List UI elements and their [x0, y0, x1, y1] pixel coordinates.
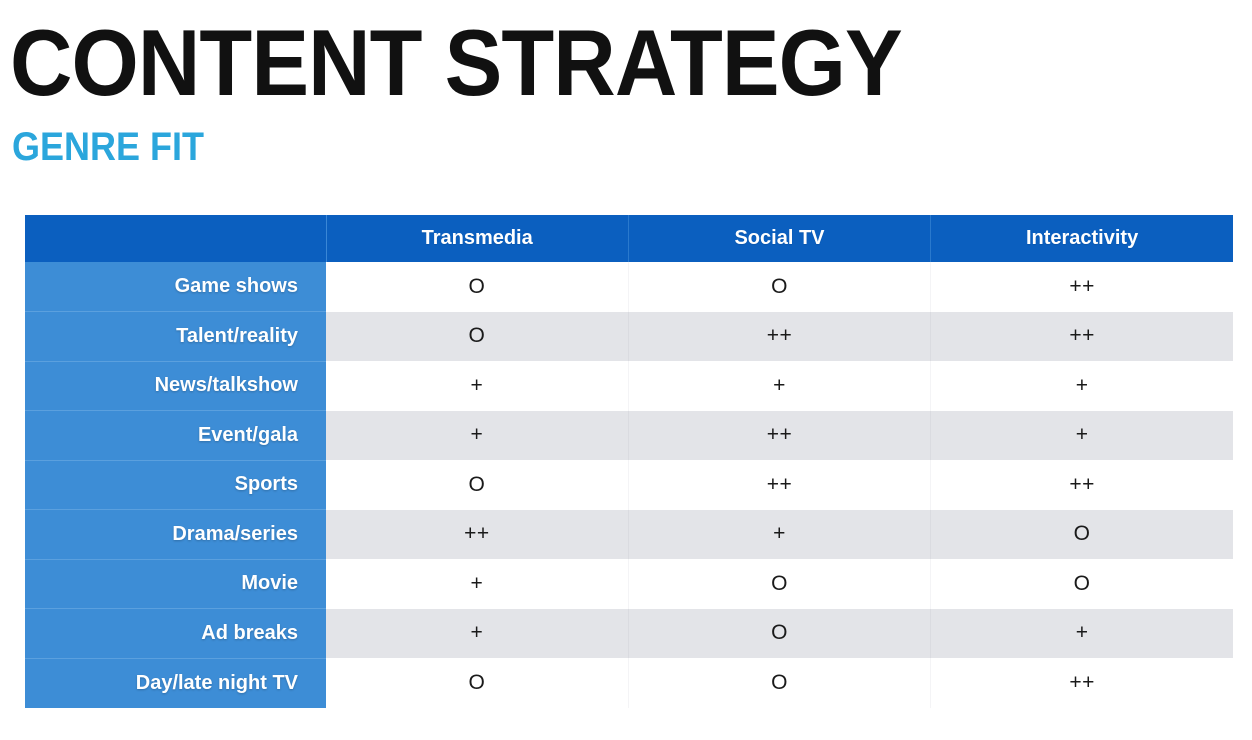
cell-talent-reality-transmedia: O: [326, 312, 628, 362]
table-body: Game shows O O ++ Talent/reality O ++ ++…: [25, 262, 1233, 708]
cell-movie-interactivity: O: [931, 559, 1233, 609]
table-row: Ad breaks + O +: [25, 609, 1233, 659]
cell-news-talkshow-transmedia: +: [326, 361, 628, 411]
cell-event-gala-transmedia: +: [326, 411, 628, 461]
row-label-game-shows: Game shows: [25, 262, 326, 312]
table-row: Movie + O O: [25, 559, 1233, 609]
slide: CONTENT STRATEGY GENRE FIT Transmedia So…: [0, 0, 1252, 740]
column-header-interactivity: Interactivity: [931, 215, 1233, 262]
cell-day-late-night-tv-interactivity: ++: [931, 658, 1233, 708]
row-label-ad-breaks: Ad breaks: [25, 609, 326, 659]
cell-drama-series-transmedia: ++: [326, 510, 628, 560]
cell-drama-series-interactivity: O: [931, 510, 1233, 560]
cell-game-shows-social-tv: O: [628, 262, 930, 312]
cell-movie-social-tv: O: [628, 559, 930, 609]
cell-news-talkshow-interactivity: +: [931, 361, 1233, 411]
cell-sports-social-tv: ++: [628, 460, 930, 510]
cell-sports-interactivity: ++: [931, 460, 1233, 510]
cell-game-shows-transmedia: O: [326, 262, 628, 312]
row-label-movie: Movie: [25, 559, 326, 609]
table-row: Event/gala + ++ +: [25, 411, 1233, 461]
row-label-news-talkshow: News/talkshow: [25, 361, 326, 411]
page-title: CONTENT STRATEGY: [10, 16, 1068, 110]
column-header-transmedia: Transmedia: [326, 215, 628, 262]
cell-movie-transmedia: +: [326, 559, 628, 609]
table-row: Talent/reality O ++ ++: [25, 312, 1233, 362]
table-row: Day/late night TV O O ++: [25, 658, 1233, 708]
cell-event-gala-interactivity: +: [931, 411, 1233, 461]
cell-event-gala-social-tv: ++: [628, 411, 930, 461]
cell-day-late-night-tv-social-tv: O: [628, 658, 930, 708]
title-block: CONTENT STRATEGY GENRE FIT: [10, 16, 1160, 168]
cell-game-shows-interactivity: ++: [931, 262, 1233, 312]
cell-news-talkshow-social-tv: +: [628, 361, 930, 411]
cell-sports-transmedia: O: [326, 460, 628, 510]
table-header: Transmedia Social TV Interactivity: [25, 215, 1233, 262]
cell-talent-reality-interactivity: ++: [931, 312, 1233, 362]
table-row: News/talkshow + + +: [25, 361, 1233, 411]
table-header-row: Transmedia Social TV Interactivity: [25, 215, 1233, 262]
row-label-day-late-night-tv: Day/late night TV: [25, 658, 326, 708]
table-row: Game shows O O ++: [25, 262, 1233, 312]
page-subtitle: GENRE FIT: [12, 126, 1045, 168]
row-label-drama-series: Drama/series: [25, 510, 326, 560]
table-row: Drama/series ++ + O: [25, 510, 1233, 560]
cell-talent-reality-social-tv: ++: [628, 312, 930, 362]
cell-ad-breaks-social-tv: O: [628, 609, 930, 659]
row-label-talent-reality: Talent/reality: [25, 312, 326, 362]
cell-drama-series-social-tv: +: [628, 510, 930, 560]
table-corner-header: [25, 215, 326, 262]
column-header-social-tv: Social TV: [628, 215, 930, 262]
table-row: Sports O ++ ++: [25, 460, 1233, 510]
genre-fit-table: Transmedia Social TV Interactivity Game …: [25, 215, 1233, 708]
cell-day-late-night-tv-transmedia: O: [326, 658, 628, 708]
cell-ad-breaks-transmedia: +: [326, 609, 628, 659]
row-label-event-gala: Event/gala: [25, 411, 326, 461]
cell-ad-breaks-interactivity: +: [931, 609, 1233, 659]
row-label-sports: Sports: [25, 460, 326, 510]
